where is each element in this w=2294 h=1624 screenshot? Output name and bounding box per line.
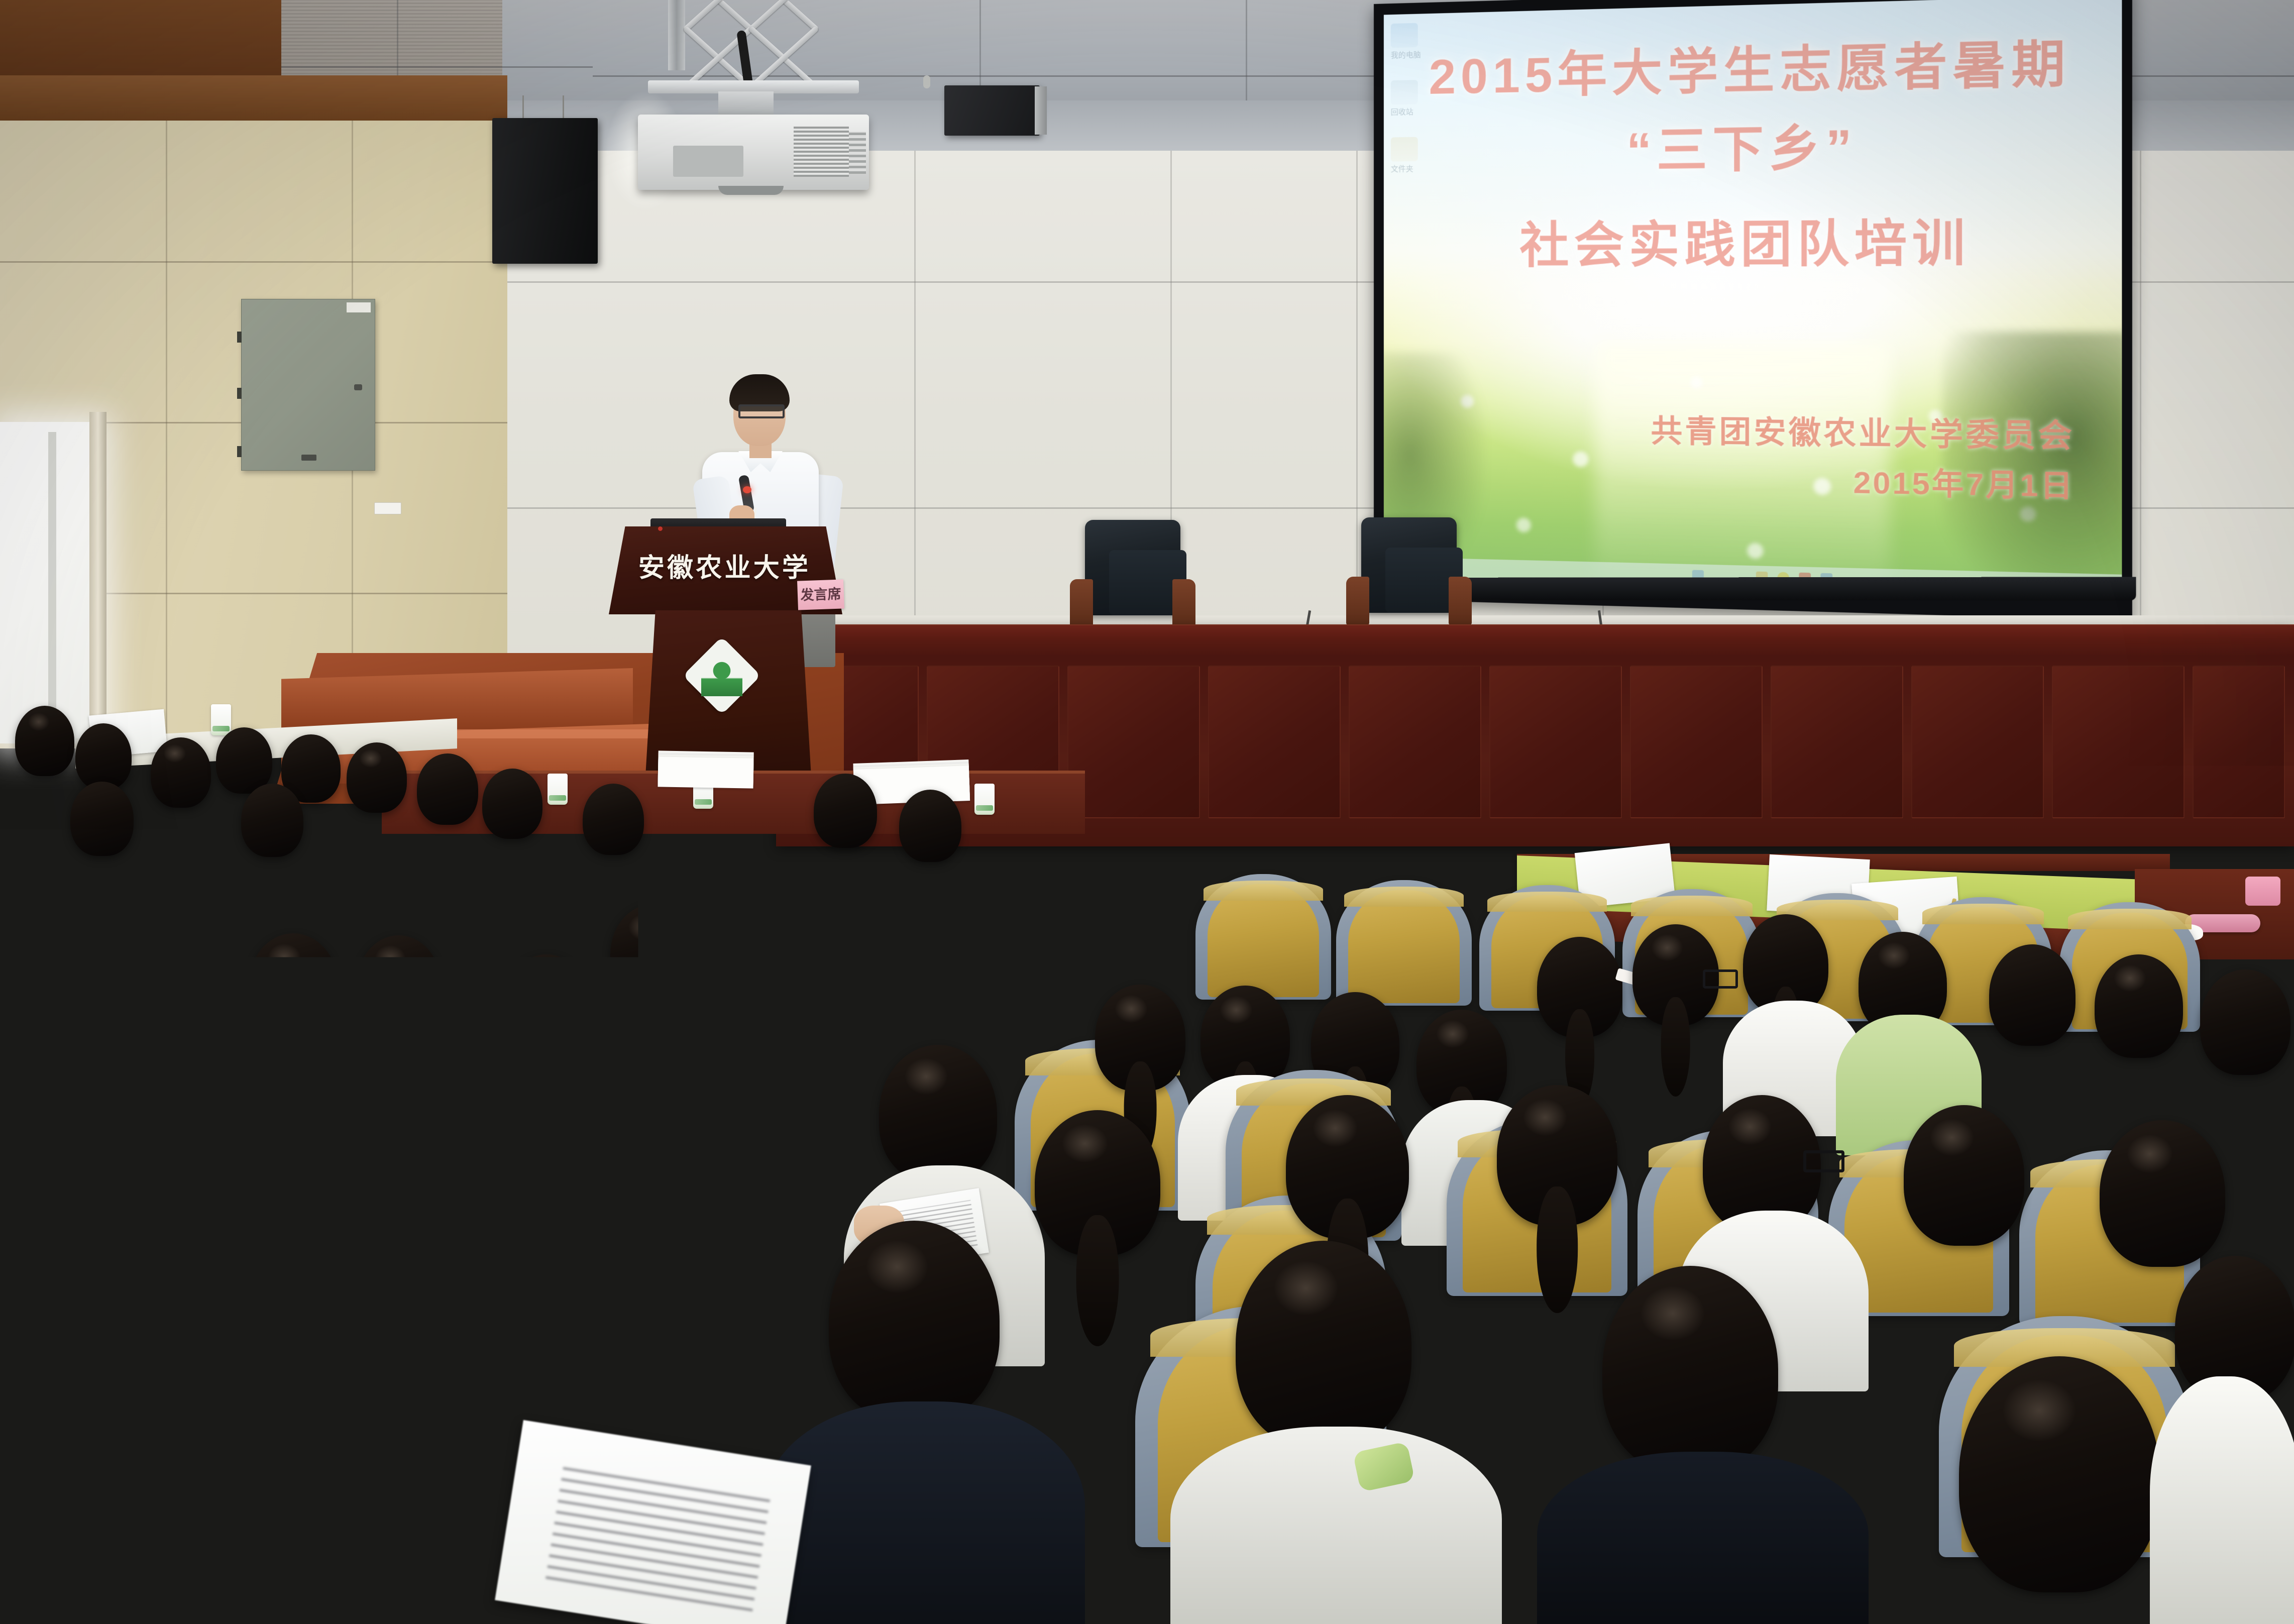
- wood-trim-band: [0, 75, 507, 121]
- audience-head: [347, 742, 407, 813]
- audience-hand: [352, 1527, 502, 1622]
- table-panel: [1489, 666, 1622, 818]
- wall-panel-line: [0, 261, 507, 263]
- audience-head: [482, 769, 542, 839]
- audience-head: [1904, 1105, 2024, 1246]
- speaker-suspension-wire: [563, 95, 564, 120]
- wall-speaker-large: [492, 118, 598, 264]
- chair-armrest: [1070, 579, 1093, 627]
- audience-head: [321, 1246, 487, 1442]
- eyeglasses: [1803, 1150, 1844, 1172]
- table-panel: [1911, 666, 2044, 818]
- audience-head: [1743, 914, 1828, 1015]
- audience-head: [1989, 944, 2075, 1046]
- audience-head: [829, 1221, 1000, 1422]
- chair-armrest: [1449, 577, 1472, 625]
- audience-head: [417, 753, 478, 825]
- wall-panel-line: [166, 121, 167, 748]
- chair-backrest: [1361, 517, 1457, 613]
- door-frame: [89, 412, 106, 753]
- audience-torso: [1537, 1452, 1869, 1624]
- presenter-glasses: [738, 404, 785, 418]
- audience-torso: [653, 1150, 854, 1341]
- power-led-icon: [658, 526, 663, 531]
- table-panel: [2193, 666, 2285, 818]
- paper-cup[interactable]: [974, 784, 995, 815]
- chair-armrest: [1172, 579, 1195, 627]
- slide-footer-block: 共青团安徽农业大学委员会 2015年7月1日: [1651, 406, 2074, 506]
- handout-stack[interactable]: [658, 756, 753, 788]
- cabinet-hinge: [237, 446, 242, 457]
- audience-torso: [0, 1356, 266, 1624]
- audience-head: [1035, 1110, 1160, 1256]
- projector-vent: [849, 132, 866, 174]
- chair-armrest: [1346, 577, 1369, 625]
- projector-port-panel: [673, 146, 743, 177]
- cabinet-hinge: [237, 332, 242, 343]
- audience-head: [1959, 1356, 2160, 1592]
- audience-head: [15, 706, 74, 776]
- audience-torso: [763, 1401, 1085, 1624]
- slide-title-line-3: 社会实践团队培训: [1384, 193, 2122, 292]
- audience-head: [879, 1045, 997, 1182]
- cabinet-label-sticker: [347, 302, 371, 312]
- auditorium-photo: 我的电脑 回收站 文件夹 2015年大学生志愿者暑期 “三下乡” 社会实践团队培…: [0, 0, 2294, 1624]
- projector-vent: [794, 127, 849, 177]
- head-table-chair[interactable]: [1070, 520, 1195, 628]
- held-paper-sheet[interactable]: [495, 1420, 811, 1624]
- podium-nameplate: 安徽农业大学: [623, 547, 826, 584]
- speaker-seat-card: 发言席: [797, 579, 844, 610]
- audience-torso: [2150, 1376, 2294, 1624]
- projection-screen-frame: 我的电脑 回收站 文件夹 2015年大学生志愿者暑期 “三下乡” 社会实践团队培…: [1374, 0, 2132, 620]
- slide-title-block: 2015年大学生志愿者暑期 “三下乡” 社会实践团队培训: [1384, 31, 2122, 292]
- slide-organization: 共青团安徽农业大学委员会: [1651, 406, 2074, 457]
- ceiling-seam: [397, 0, 398, 80]
- audience-head: [75, 723, 132, 790]
- table-panel: [1349, 666, 1481, 818]
- audience-head: [2100, 1120, 2225, 1267]
- speaker-hook: [923, 75, 930, 88]
- audience-head: [241, 784, 303, 857]
- audience-head: [151, 737, 211, 808]
- table-panel: [1630, 666, 1763, 818]
- head-table-chair[interactable]: [1346, 517, 1472, 625]
- projector-lens: [718, 186, 784, 195]
- paper-cup[interactable]: [548, 774, 568, 805]
- eyeglasses: [1703, 969, 1738, 989]
- projection-screen-roller: [1379, 577, 2136, 600]
- my-computer-icon[interactable]: [1391, 23, 1418, 48]
- cabinet-latch-icon[interactable]: [301, 455, 316, 461]
- cabinet-lock-icon[interactable]: [354, 384, 362, 390]
- speaker-mount-bracket: [1035, 86, 1047, 135]
- audience-head: [2095, 954, 2183, 1058]
- audience-head: [1497, 1085, 1617, 1226]
- crest-inner-mark: [701, 655, 742, 696]
- door-mullion: [48, 432, 56, 733]
- audience-head: [1602, 1266, 1778, 1473]
- audience-head: [249, 933, 338, 1038]
- wall-speaker-small: [944, 85, 1040, 136]
- audience-head: [1537, 937, 1622, 1037]
- table-panel: [1208, 666, 1341, 818]
- audience-head: [1095, 985, 1185, 1091]
- audience-head: [899, 790, 961, 862]
- chair-backrest: [1085, 520, 1180, 615]
- speaker-suspension-wire: [522, 95, 524, 120]
- lift-column: [668, 0, 685, 70]
- projection-screen: 我的电脑 回收站 文件夹 2015年大学生志愿者暑期 “三下乡” 社会实践团队培…: [1384, 0, 2122, 597]
- projector-mount-neck: [718, 91, 774, 118]
- light-switch[interactable]: [374, 502, 401, 514]
- auditorium-seat[interactable]: [1195, 874, 1331, 1000]
- audience-head: [1286, 1095, 1409, 1239]
- audience-head: [583, 784, 644, 855]
- table-panel: [1067, 666, 1200, 818]
- table-panel: [2052, 666, 2184, 818]
- microphone-led-icon: [743, 486, 751, 493]
- cabinet-hinge: [237, 388, 242, 399]
- audience-torso: [1170, 1427, 1502, 1624]
- audience-head: [814, 774, 877, 848]
- audience-head: [2200, 969, 2290, 1075]
- auditorium-seat[interactable]: [1336, 880, 1472, 1006]
- eyeglasses: [668, 948, 704, 968]
- water-bottle[interactable]: [2245, 877, 2280, 906]
- audience-head: [502, 954, 591, 1058]
- slide-title-line-2: “三下乡”: [1384, 95, 2122, 200]
- slide-date: 2015年7月1日: [1651, 455, 2074, 506]
- audience-head: [70, 782, 134, 856]
- audience-head: [1236, 1241, 1411, 1448]
- audience-head: [15, 1180, 181, 1376]
- audience-head: [693, 1032, 809, 1167]
- table-panel: [1771, 666, 1903, 818]
- ceiling-seam: [1246, 0, 1247, 116]
- eyeglasses: [433, 975, 461, 993]
